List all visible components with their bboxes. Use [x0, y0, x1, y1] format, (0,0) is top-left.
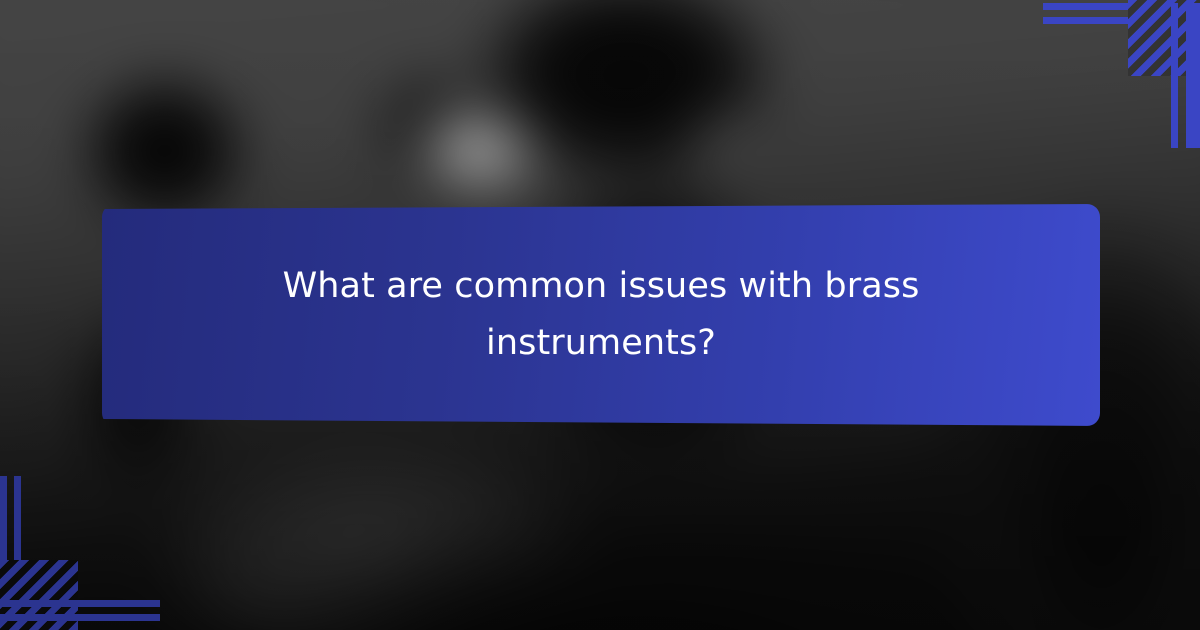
bottom-left-horizontal-stripe-2	[0, 614, 160, 621]
top-right-vertical-stripe-1	[1171, 3, 1178, 148]
headline-text: What are common issues with brass instru…	[281, 258, 921, 371]
headline-banner: What are common issues with brass instru…	[102, 204, 1100, 426]
social-card: What are common issues with brass instru…	[0, 0, 1200, 630]
top-right-vertical-stripe-2	[1186, 3, 1200, 148]
bottom-left-horizontal-stripe-1	[0, 600, 160, 607]
